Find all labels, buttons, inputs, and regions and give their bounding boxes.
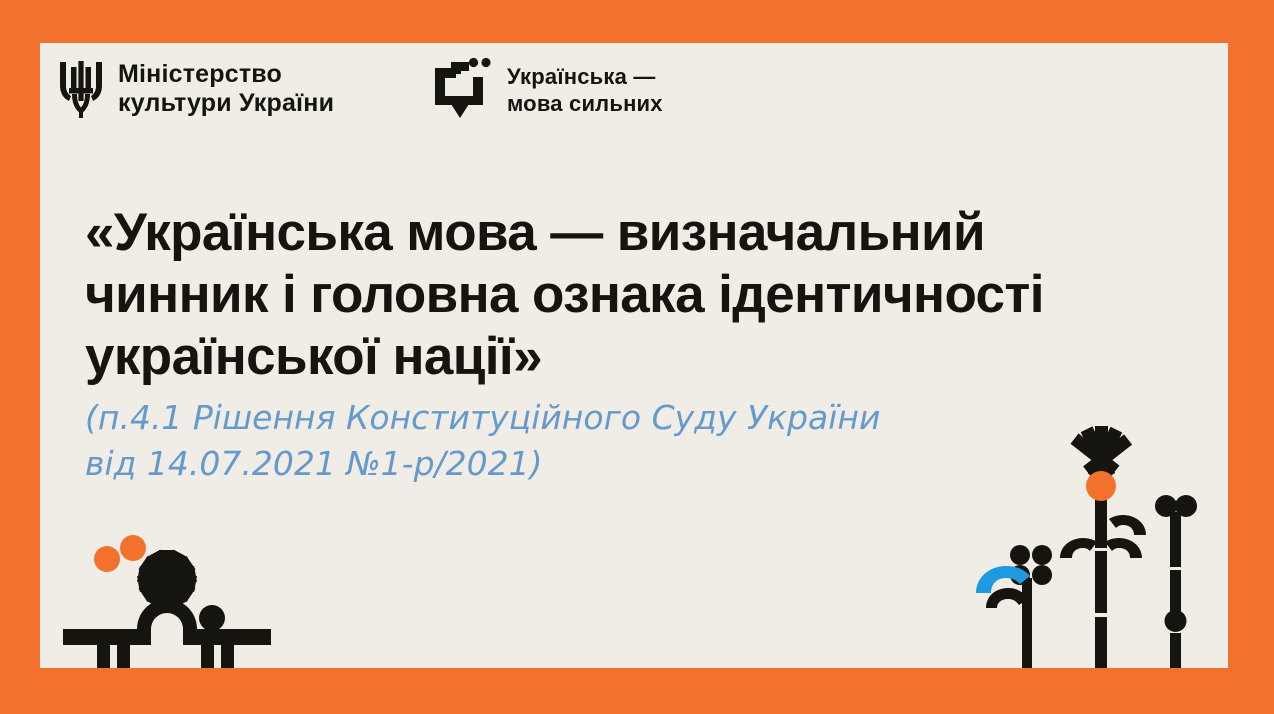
campaign-logo: Українська — мова сильних <box>435 57 663 123</box>
poster-root: Міністерство культури України <box>0 0 1274 714</box>
sun-dot-1 <box>94 546 120 572</box>
flower-center-dot <box>1086 471 1116 501</box>
sun-dot-2 <box>120 535 146 561</box>
poster-panel: Міністерство культури України <box>40 43 1228 668</box>
headline-line-1: «Українська мова — визначальний <box>85 202 1190 264</box>
tryzub-icon <box>58 58 104 120</box>
headline-line-3: української нації» <box>85 326 1190 388</box>
citation-text: (п.4.1 Рішення Конституційного Суду Укра… <box>85 395 1085 487</box>
headline-line-2: чинник і головна ознака ідентичності <box>85 264 1190 326</box>
ministry-logo: Міністерство культури України <box>58 58 334 120</box>
page-title: «Українська мова — визначальний чинник і… <box>85 202 1190 388</box>
citation-line-2: від 14.07.2021 №1-р/2021) <box>85 441 1085 487</box>
ministry-logo-text: Міністерство культури України <box>118 60 334 118</box>
speech-bubble-icon <box>435 57 491 123</box>
stylized-plants-ornament <box>960 418 1220 668</box>
sun-rays-ornament <box>55 533 275 668</box>
citation-line-1: (п.4.1 Рішення Конституційного Суду Укра… <box>85 395 1085 441</box>
campaign-logo-text: Українська — мова сильних <box>507 63 663 117</box>
logo-row: Міністерство культури України <box>40 43 1228 153</box>
